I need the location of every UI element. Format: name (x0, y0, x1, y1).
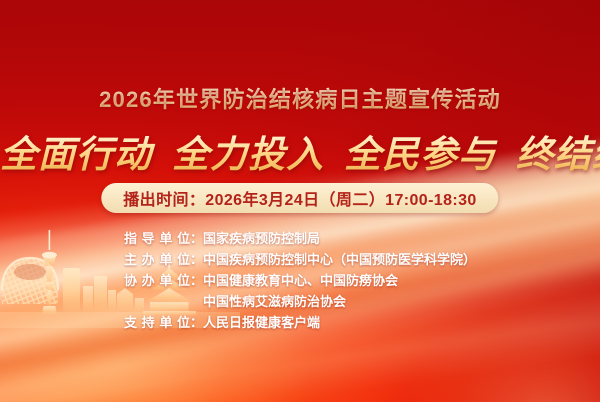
organizer-value: 中国疾病预防控制中心（中国预防医学科学院） (203, 249, 476, 270)
event-headline: 全面行动全力投入全民参与终结结核 (0, 124, 600, 178)
organizer-label: 支持单位 (124, 312, 190, 333)
poster-content: 2026年世界防治结核病日主题宣传活动 全面行动全力投入全民参与终结结核 播出时… (0, 0, 600, 402)
headline-part-1: 全面行动 (0, 134, 152, 175)
organizer-value: 国家疾病预防控制局 (203, 228, 476, 249)
organizer-colon: ： (190, 228, 203, 249)
organizer-colon: ： (190, 312, 203, 333)
organizer-list: 指导单位：国家疾病预防控制局 主办单位：中国疾病预防控制中心（中国预防医学科学院… (0, 228, 600, 333)
organizer-row: 支持单位：人民日报健康客户端 (124, 312, 476, 333)
poster-canvas: 2026年世界防治结核病日主题宣传活动 全面行动全力投入全民参与终结结核 播出时… (0, 0, 600, 402)
headline-part-2: 全力投入 (172, 134, 324, 175)
organizer-value: 中国性病艾滋病防治协会 (203, 291, 476, 312)
organizer-row: 协办单位：中国健康教育中心、中国防痨协会 (124, 270, 476, 291)
event-subtitle: 2026年世界防治结核病日主题宣传活动 (0, 82, 600, 114)
organizer-value: 中国健康教育中心、中国防痨协会 (203, 270, 476, 291)
organizer-row: 指导单位：国家疾病预防控制局 (124, 228, 476, 249)
organizer-label: 主办单位 (124, 249, 190, 270)
organizer-label: 协办单位 (124, 270, 190, 291)
headline-part-4: 终结结核 (516, 134, 600, 175)
organizer-colon: ： (190, 270, 203, 291)
organizer-row-continuation: 指导单位：中国性病艾滋病防治协会 (124, 291, 476, 312)
organizer-label: 指导单位 (124, 228, 190, 249)
organizer-row: 主办单位：中国疾病预防控制中心（中国预防医学科学院） (124, 249, 476, 270)
organizer-colon: ： (190, 249, 203, 270)
organizer-value: 人民日报健康客户端 (203, 312, 476, 333)
broadcast-time-badge: 播出时间：2026年3月24日（周二）17:00-18:30 (101, 183, 498, 213)
headline-part-3: 全民参与 (344, 134, 496, 175)
